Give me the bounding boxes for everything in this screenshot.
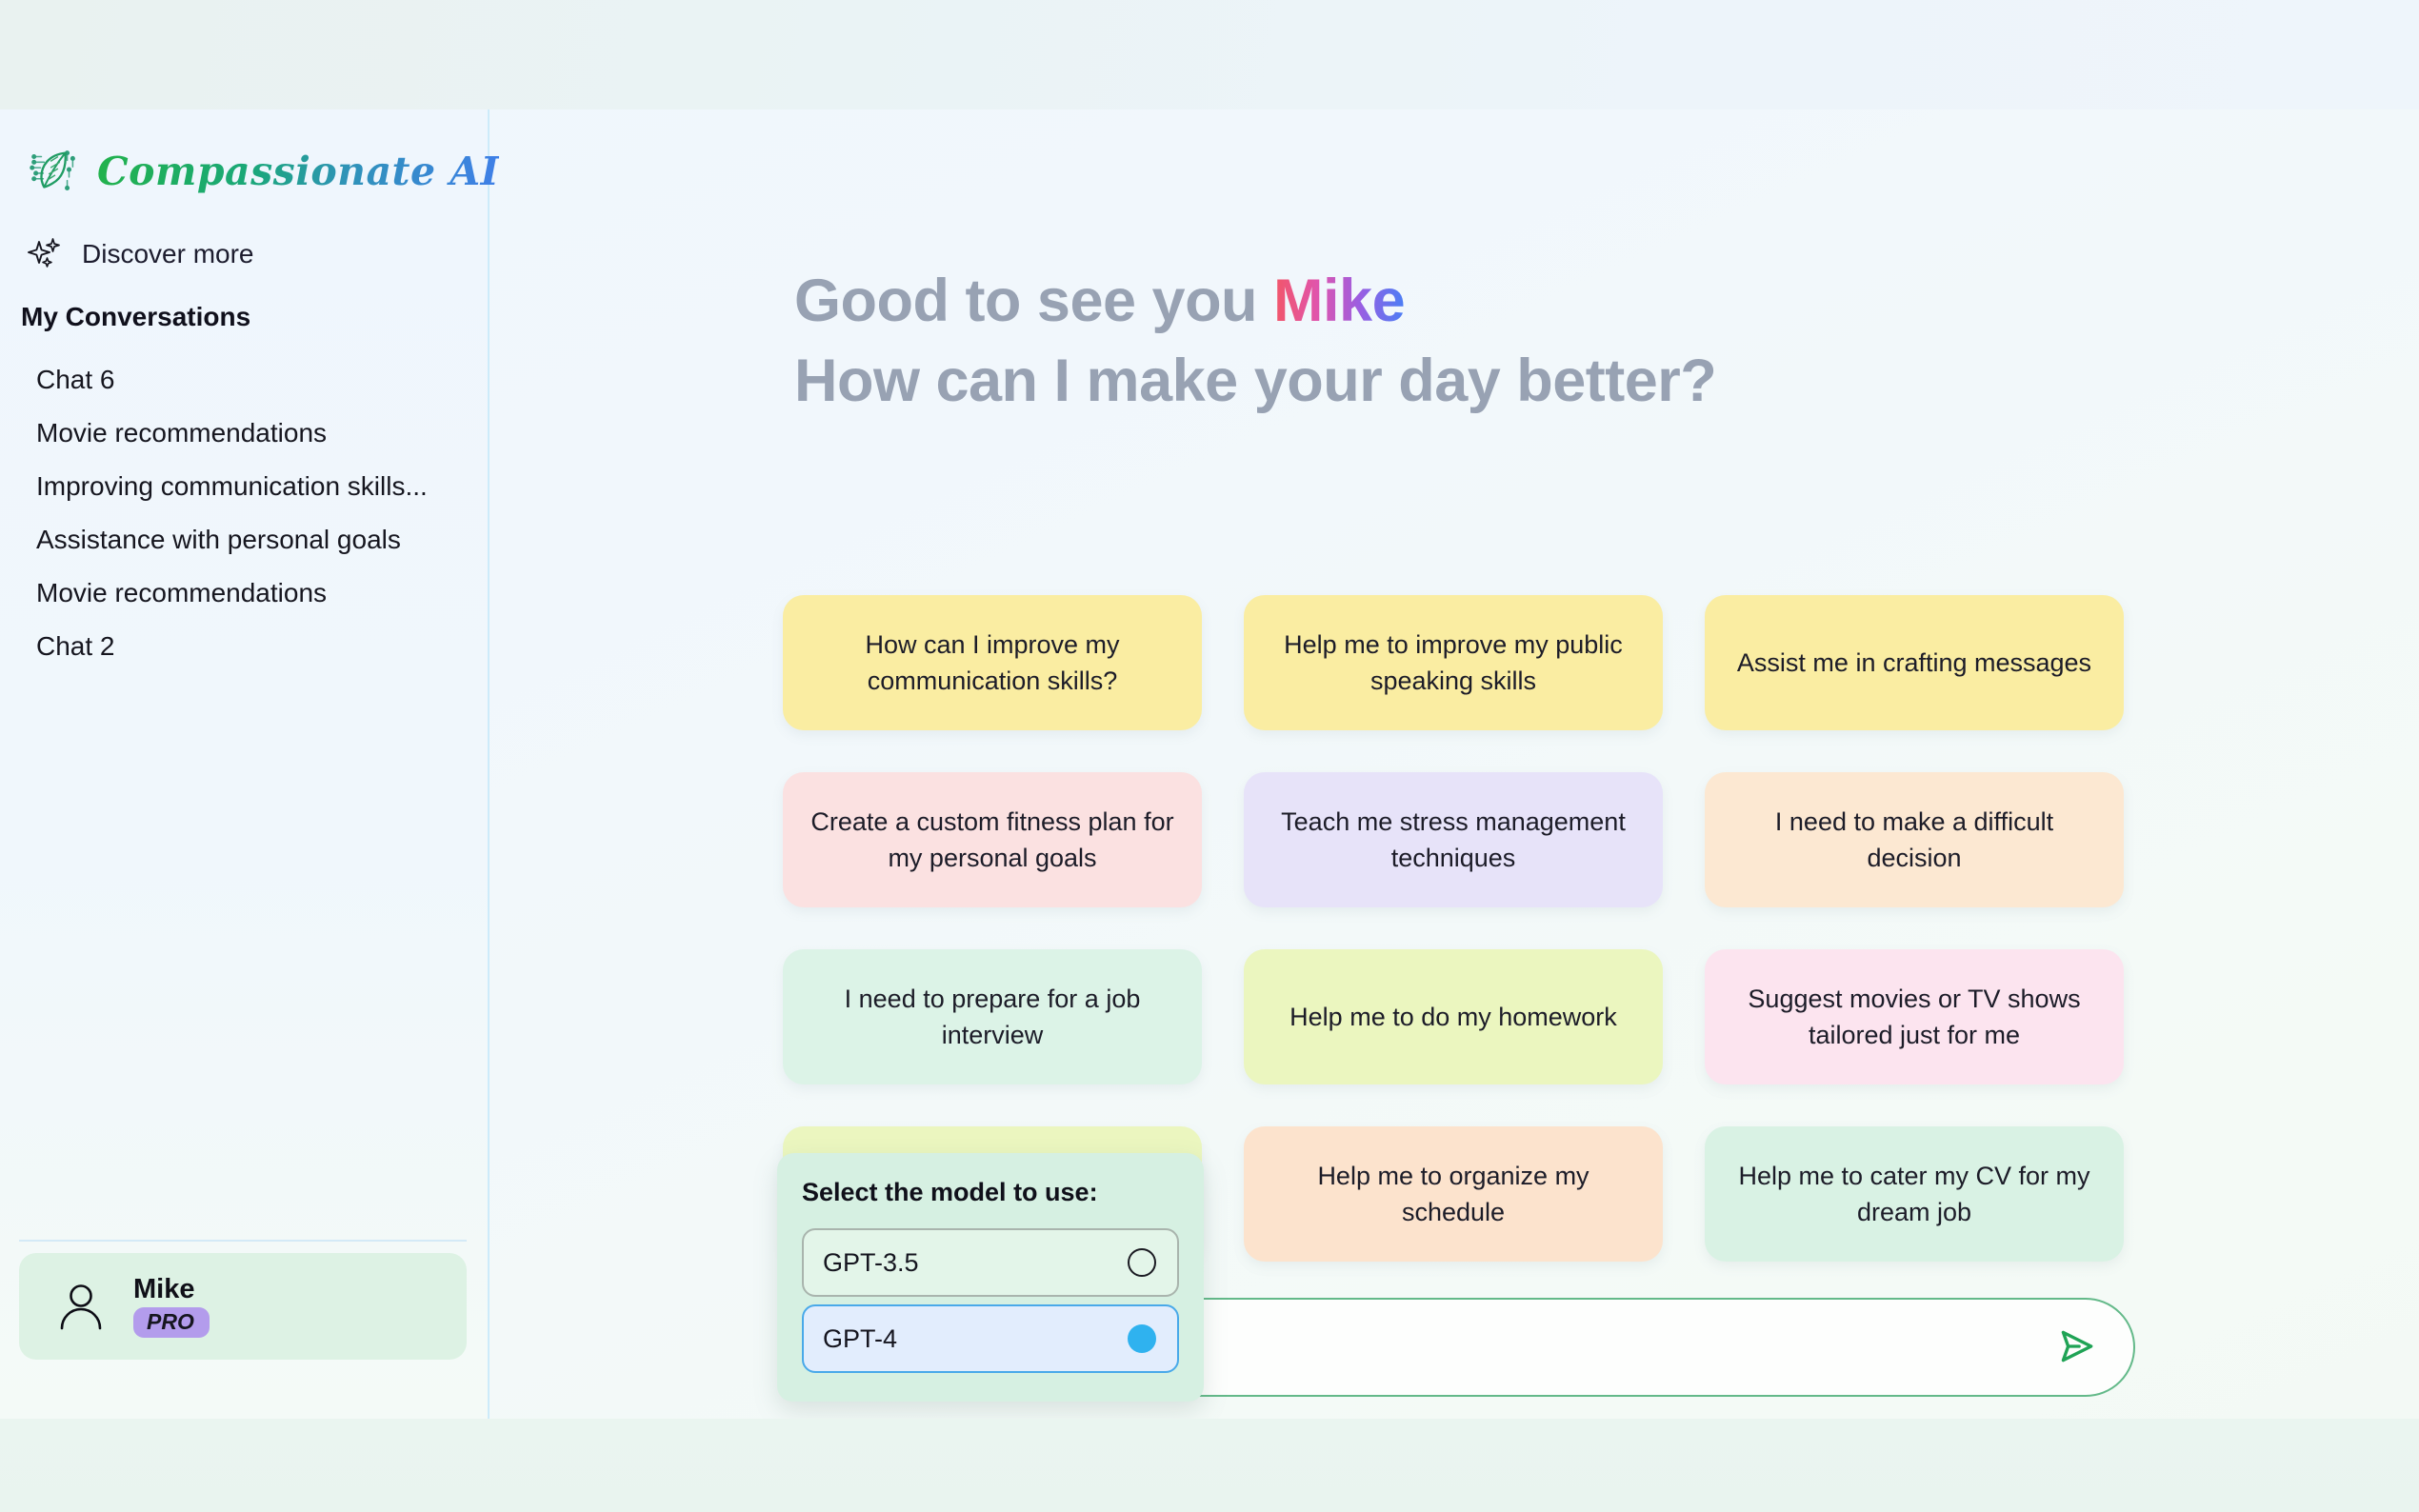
model-option-label: GPT-3.5 — [823, 1248, 919, 1278]
sparkles-icon — [27, 235, 65, 273]
page-backdrop-bottom — [0, 1419, 2419, 1512]
model-option-gpt-3-5[interactable]: GPT-3.5 — [802, 1228, 1179, 1297]
main-content: Good to see you Mike How can I make your… — [490, 109, 2419, 1419]
suggestion-card[interactable]: Teach me stress management techniques — [1244, 772, 1663, 907]
app-window: Compassionate AI Discover more My Conver… — [0, 109, 2419, 1419]
suggestion-card[interactable]: Help me to cater my CV for my dream job — [1705, 1126, 2124, 1262]
discover-more-label: Discover more — [82, 239, 253, 269]
model-option-label: GPT-4 — [823, 1324, 897, 1354]
page-title: Good to see you Mike How can I make your… — [794, 262, 2419, 422]
suggestion-card[interactable]: Help me to do my homework — [1244, 949, 1663, 1084]
greeting-user-name: Mike — [1273, 268, 1405, 334]
suggestion-card[interactable]: I need to make a difficult decision — [1705, 772, 2124, 907]
model-option-gpt-4[interactable]: GPT-4 — [802, 1304, 1179, 1373]
suggestion-card[interactable]: Create a custom fitness plan for my pers… — [783, 772, 1202, 907]
conversation-item[interactable]: Chat 6 — [0, 353, 488, 407]
brand-name: Compassionate AI — [97, 149, 499, 194]
sidebar-divider — [19, 1240, 467, 1242]
conversation-item[interactable]: Assistance with personal goals — [0, 513, 488, 567]
person-icon — [53, 1279, 109, 1334]
suggestion-card[interactable]: I need to prepare for a job interview — [783, 949, 1202, 1084]
model-selector-popover: Select the model to use: GPT-3.5 GPT-4 — [777, 1153, 1204, 1402]
conversations-section-title: My Conversations — [21, 302, 488, 332]
greeting-prefix: Good to see you — [794, 268, 1273, 334]
user-profile-card[interactable]: Mike PRO — [19, 1253, 467, 1360]
brand-logo[interactable]: Compassionate AI — [0, 109, 488, 201]
conversation-item[interactable]: Chat 2 — [0, 620, 488, 673]
send-button[interactable] — [2051, 1323, 2101, 1372]
suggestion-card[interactable]: Assist me in crafting messages — [1705, 595, 2124, 730]
leaf-circuit-icon — [25, 142, 84, 201]
send-paper-plane-icon — [2054, 1324, 2098, 1371]
sidebar-item-discover-more[interactable]: Discover more — [27, 235, 312, 273]
suggestion-card[interactable]: Help me to organize my schedule — [1244, 1126, 1663, 1262]
suggestion-card[interactable]: Help me to improve my public speaking sk… — [1244, 595, 1663, 730]
conversation-item[interactable]: Movie recommendations — [0, 407, 488, 460]
sidebar: Compassionate AI Discover more My Conver… — [0, 109, 490, 1419]
page-backdrop-top — [0, 0, 2419, 109]
user-meta: Mike PRO — [133, 1275, 210, 1338]
conversation-item[interactable]: Movie recommendations — [0, 567, 488, 620]
radio-unselected-icon[interactable] — [1128, 1248, 1156, 1277]
pro-badge: PRO — [133, 1307, 210, 1338]
suggestion-card[interactable]: Suggest movies or TV shows tailored just… — [1705, 949, 2124, 1084]
radio-selected-icon[interactable] — [1128, 1324, 1156, 1353]
conversation-item[interactable]: Improving communication skills... — [0, 460, 488, 513]
suggestion-card[interactable]: How can I improve my communication skill… — [783, 595, 1202, 730]
conversation-list: Chat 6 Movie recommendations Improving c… — [0, 353, 488, 673]
user-name: Mike — [133, 1275, 210, 1303]
greeting-line2: How can I make your day better? — [794, 348, 1716, 414]
model-selector-title: Select the model to use: — [802, 1178, 1179, 1207]
